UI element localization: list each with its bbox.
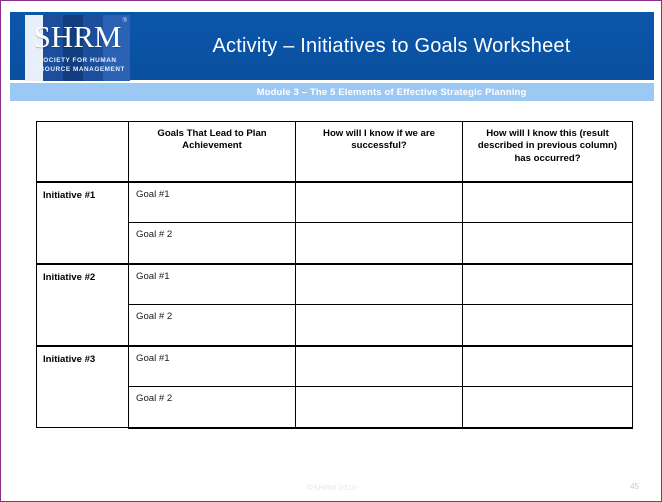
copyright-notice: ©SHRM 2010 <box>1 483 662 492</box>
table-header-row: Goals That Lead to Plan Achievement How … <box>37 122 633 182</box>
shrm-logo: SHRM ® SOCIETY FOR HUMAN RESOURCE MANAGE… <box>25 15 130 81</box>
registered-trademark-icon: ® <box>123 18 127 24</box>
result-evidence-cell[interactable] <box>463 182 633 223</box>
success-measure-cell[interactable] <box>296 182 463 223</box>
goal-cell[interactable]: Goal # 2 <box>129 387 296 428</box>
goal-cell[interactable]: Goal #1 <box>129 182 296 223</box>
module-subtitle-bar: Module 3 – The 5 Elements of Effective S… <box>129 83 654 101</box>
module-bar-left-filler <box>10 83 129 101</box>
column-header-initiative <box>37 122 129 182</box>
goal-cell[interactable]: Goal # 2 <box>129 305 296 346</box>
initiative-label-cell-1: Initiative #1 <box>37 182 129 264</box>
page-number: 45 <box>630 482 639 491</box>
logo-tagline: SOCIETY FOR HUMAN RESOURCE MANAGEMENT <box>25 56 130 75</box>
result-evidence-cell[interactable] <box>463 223 633 264</box>
logo-tagline-line-2: RESOURCE MANAGEMENT <box>25 65 130 74</box>
table-row: Initiative #3 Goal #1 <box>37 346 633 387</box>
result-evidence-cell[interactable] <box>463 305 633 346</box>
table-row: Initiative #2 Goal #1 <box>37 264 633 305</box>
result-evidence-cell[interactable] <box>463 264 633 305</box>
success-measure-cell[interactable] <box>296 264 463 305</box>
result-evidence-cell[interactable] <box>463 346 633 387</box>
initiative-label-cell-3: Initiative #3 <box>37 346 129 428</box>
logo-tagline-line-1: SOCIETY FOR HUMAN <box>25 56 130 65</box>
success-measure-cell[interactable] <box>296 305 463 346</box>
module-subtitle-text: Module 3 – The 5 Elements of Effective S… <box>257 87 527 98</box>
column-header-success-measure: How will I know if we are successful? <box>296 122 463 182</box>
goal-cell[interactable]: Goal #1 <box>129 346 296 387</box>
slide-canvas: SHRM ® SOCIETY FOR HUMAN RESOURCE MANAGE… <box>0 0 662 502</box>
success-measure-cell[interactable] <box>296 387 463 428</box>
initiative-label-cell-2: Initiative #2 <box>37 264 129 346</box>
goal-cell[interactable]: Goal # 2 <box>129 223 296 264</box>
success-measure-cell[interactable] <box>296 346 463 387</box>
page-title: Activity – Initiatives to Goals Workshee… <box>129 12 654 80</box>
logo-wordmark: SHRM <box>25 16 130 56</box>
goal-cell[interactable]: Goal #1 <box>129 264 296 305</box>
column-header-result-evidence: How will I know this (result described i… <box>463 122 633 182</box>
initiatives-to-goals-table: Goals That Lead to Plan Achievement How … <box>36 121 633 429</box>
table-row: Initiative #1 Goal #1 <box>37 182 633 223</box>
column-header-goals: Goals That Lead to Plan Achievement <box>129 122 296 182</box>
success-measure-cell[interactable] <box>296 223 463 264</box>
result-evidence-cell[interactable] <box>463 387 633 428</box>
